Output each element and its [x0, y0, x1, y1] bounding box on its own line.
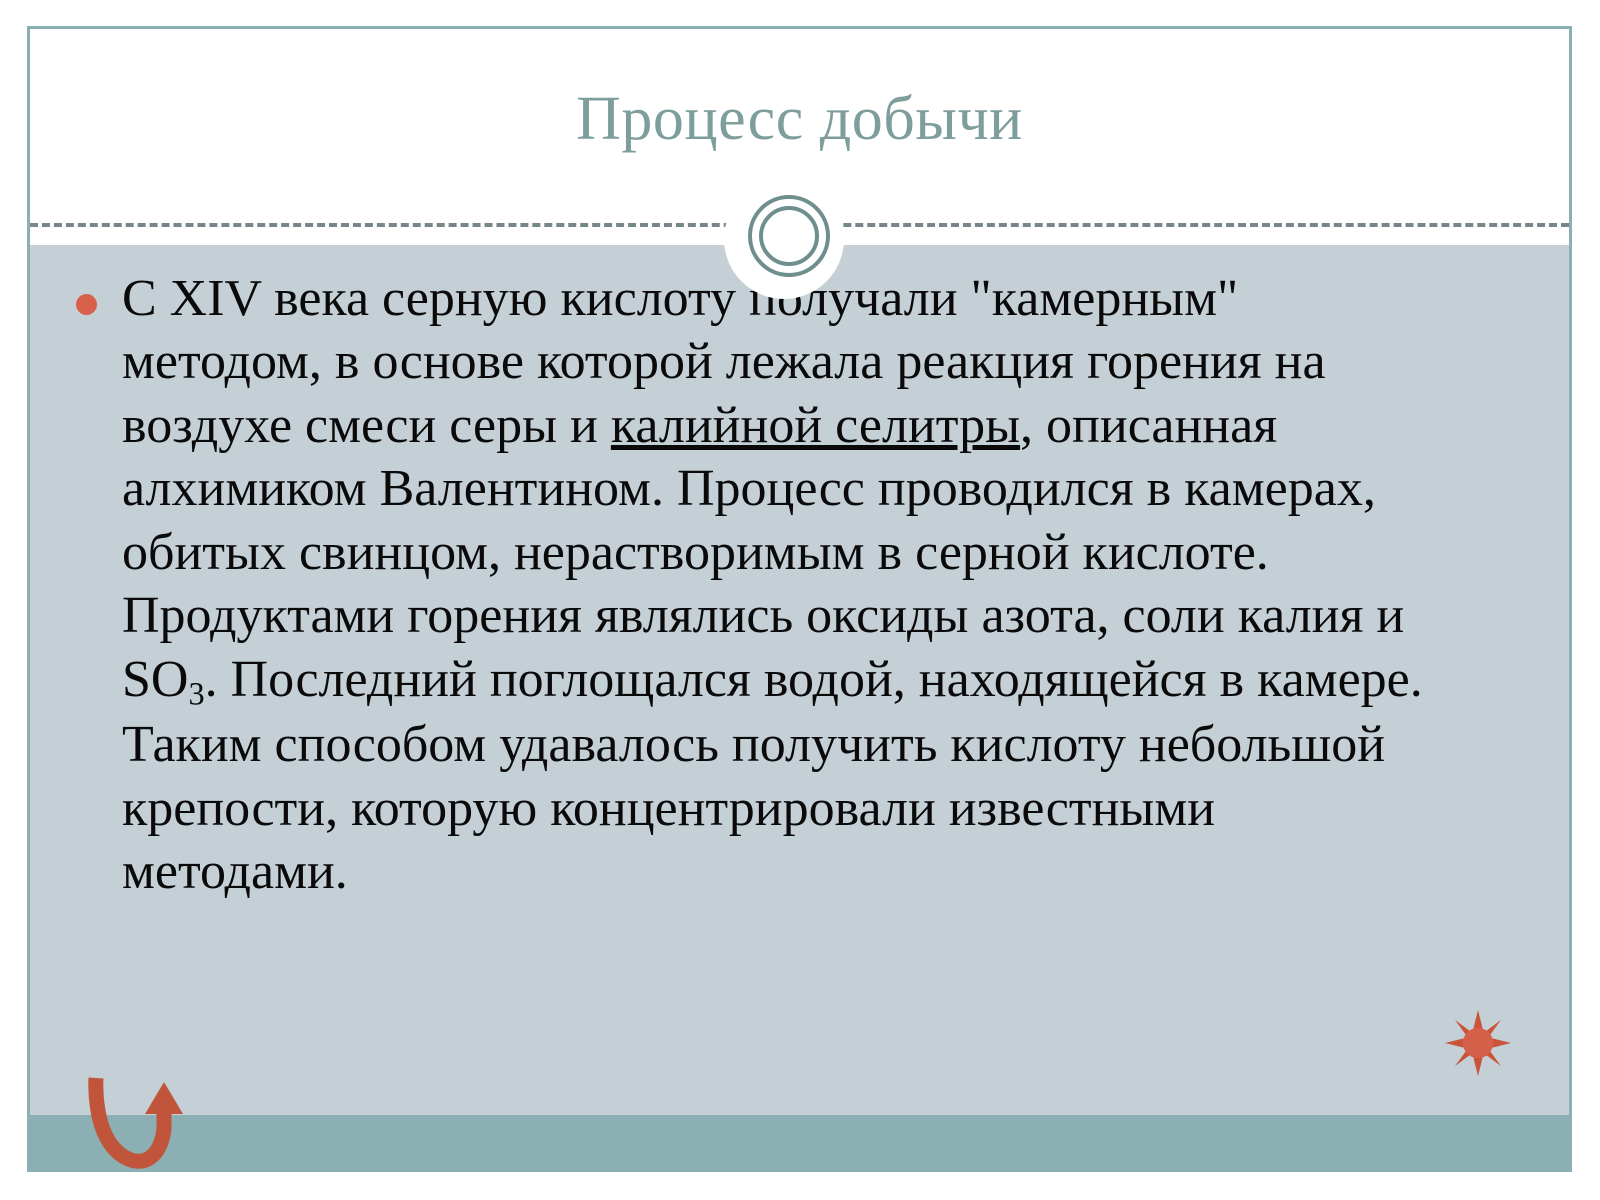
sun-burst-icon [1445, 1010, 1511, 1076]
double-ring-circle-icon [748, 195, 830, 277]
subscript-three: 3 [188, 675, 204, 711]
page-title: Процесс добычи [30, 87, 1569, 152]
slide-content: С XIV века серную кислоту получали "каме… [30, 245, 1569, 904]
u-turn-arrow-icon [86, 1070, 190, 1172]
bullet-text-tail: . Последний поглощался водой, находящейс… [122, 651, 1423, 901]
bullet-dot-icon [76, 294, 97, 315]
list-item: С XIV века серную кислоту получали "каме… [30, 267, 1569, 904]
bullet-list: С XIV века серную кислоту получали "каме… [30, 267, 1569, 904]
footer-bar [30, 1115, 1569, 1172]
hyperlink-potassium-nitrate[interactable]: калийной селитры [611, 397, 1020, 454]
slide: Процесс добычи С XIV века серную кислоту… [27, 26, 1572, 1172]
